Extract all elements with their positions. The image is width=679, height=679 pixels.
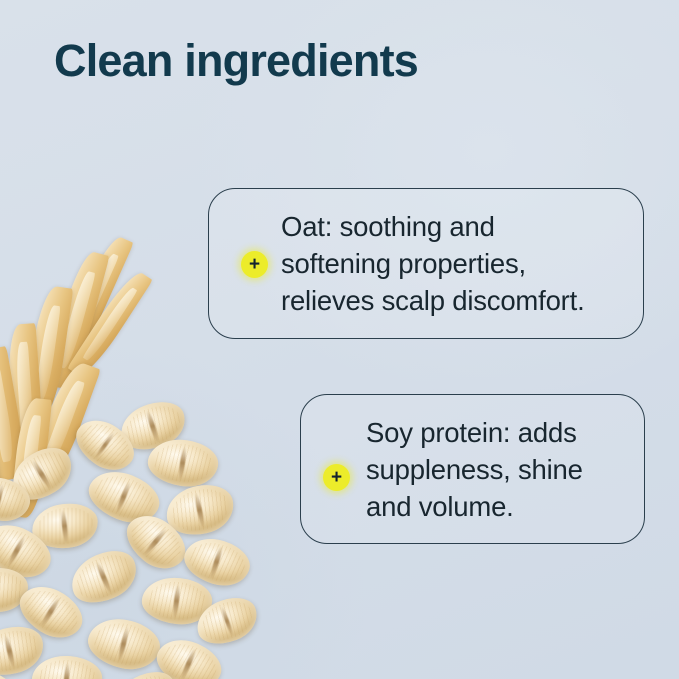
benefit-card-soy[interactable]: + Soy protein: adds suppleness, shine an… (300, 394, 645, 544)
oat-flake (64, 542, 145, 612)
page-title: Clean ingredients (54, 36, 418, 86)
benefit-text-soy: Soy protein: adds suppleness, shine and … (366, 414, 583, 525)
plus-icon: + (241, 251, 268, 278)
benefit-card-oat[interactable]: + Oat: soothing and softening properties… (208, 188, 644, 339)
plus-icon: + (323, 464, 350, 491)
benefit-text-oat: Oat: soothing and softening properties, … (281, 208, 585, 319)
oat-flake (30, 654, 103, 679)
product-benefits-poster: Clean ingredients + Oat: soothing and so… (0, 0, 679, 679)
